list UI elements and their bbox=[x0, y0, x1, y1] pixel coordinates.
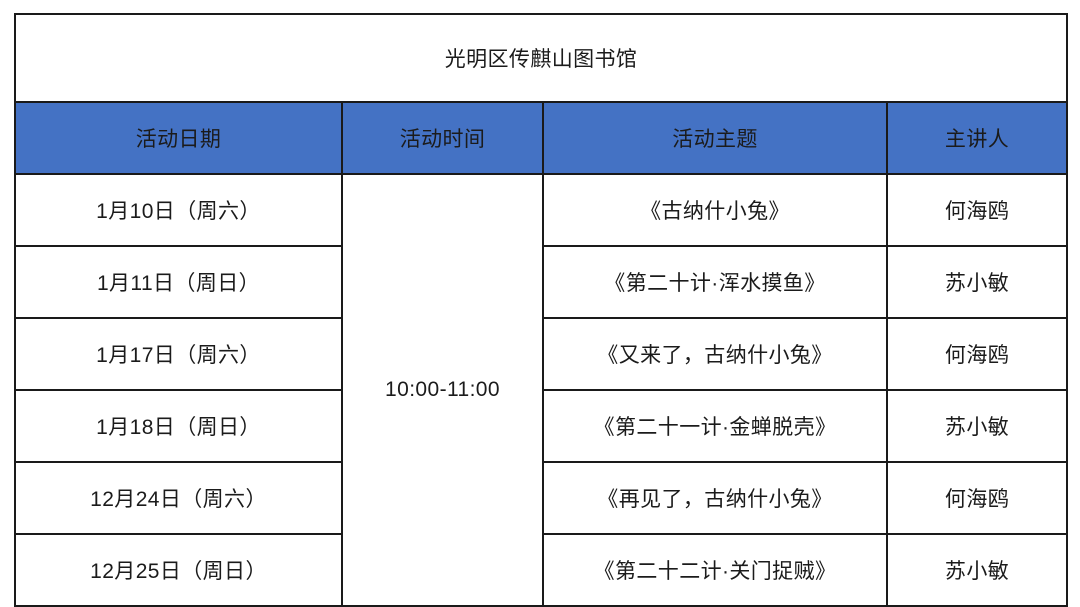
cell-topic: 《第二十一计·金蝉脱壳》 bbox=[543, 390, 887, 462]
cell-topic: 《古纳什小兔》 bbox=[543, 174, 887, 246]
page-title: 光明区传麒山图书馆 bbox=[15, 14, 1067, 102]
cell-date: 1月11日（周日） bbox=[15, 246, 342, 318]
cell-host: 何海鸥 bbox=[887, 318, 1067, 390]
column-header-topic: 活动主题 bbox=[543, 102, 887, 174]
cell-host: 何海鸥 bbox=[887, 174, 1067, 246]
column-header-time: 活动时间 bbox=[342, 102, 543, 174]
table-row: 1月10日（周六） 10:00-11:00 《古纳什小兔》 何海鸥 bbox=[15, 174, 1067, 246]
cell-host: 何海鸥 bbox=[887, 462, 1067, 534]
cell-time-merged: 10:00-11:00 bbox=[342, 174, 543, 606]
cell-host: 苏小敏 bbox=[887, 390, 1067, 462]
header-row: 活动日期 活动时间 活动主题 主讲人 bbox=[15, 102, 1067, 174]
title-row: 光明区传麒山图书馆 bbox=[15, 14, 1067, 102]
column-header-date: 活动日期 bbox=[15, 102, 342, 174]
cell-date: 12月25日（周日） bbox=[15, 534, 342, 606]
cell-date: 12月24日（周六） bbox=[15, 462, 342, 534]
cell-topic: 《又来了，古纳什小兔》 bbox=[543, 318, 887, 390]
cell-date: 1月18日（周日） bbox=[15, 390, 342, 462]
column-header-host: 主讲人 bbox=[887, 102, 1067, 174]
cell-host: 苏小敏 bbox=[887, 534, 1067, 606]
cell-topic: 《第二十二计·关门捉贼》 bbox=[543, 534, 887, 606]
cell-host: 苏小敏 bbox=[887, 246, 1067, 318]
activity-schedule-table: 光明区传麒山图书馆 活动日期 活动时间 活动主题 主讲人 1月10日（周六） 1… bbox=[14, 13, 1068, 607]
cell-date: 1月17日（周六） bbox=[15, 318, 342, 390]
cell-topic: 《第二十计·浑水摸鱼》 bbox=[543, 246, 887, 318]
cell-date: 1月10日（周六） bbox=[15, 174, 342, 246]
cell-topic: 《再见了，古纳什小兔》 bbox=[543, 462, 887, 534]
schedule-sheet: 光明区传麒山图书馆 活动日期 活动时间 活动主题 主讲人 1月10日（周六） 1… bbox=[14, 13, 1066, 578]
